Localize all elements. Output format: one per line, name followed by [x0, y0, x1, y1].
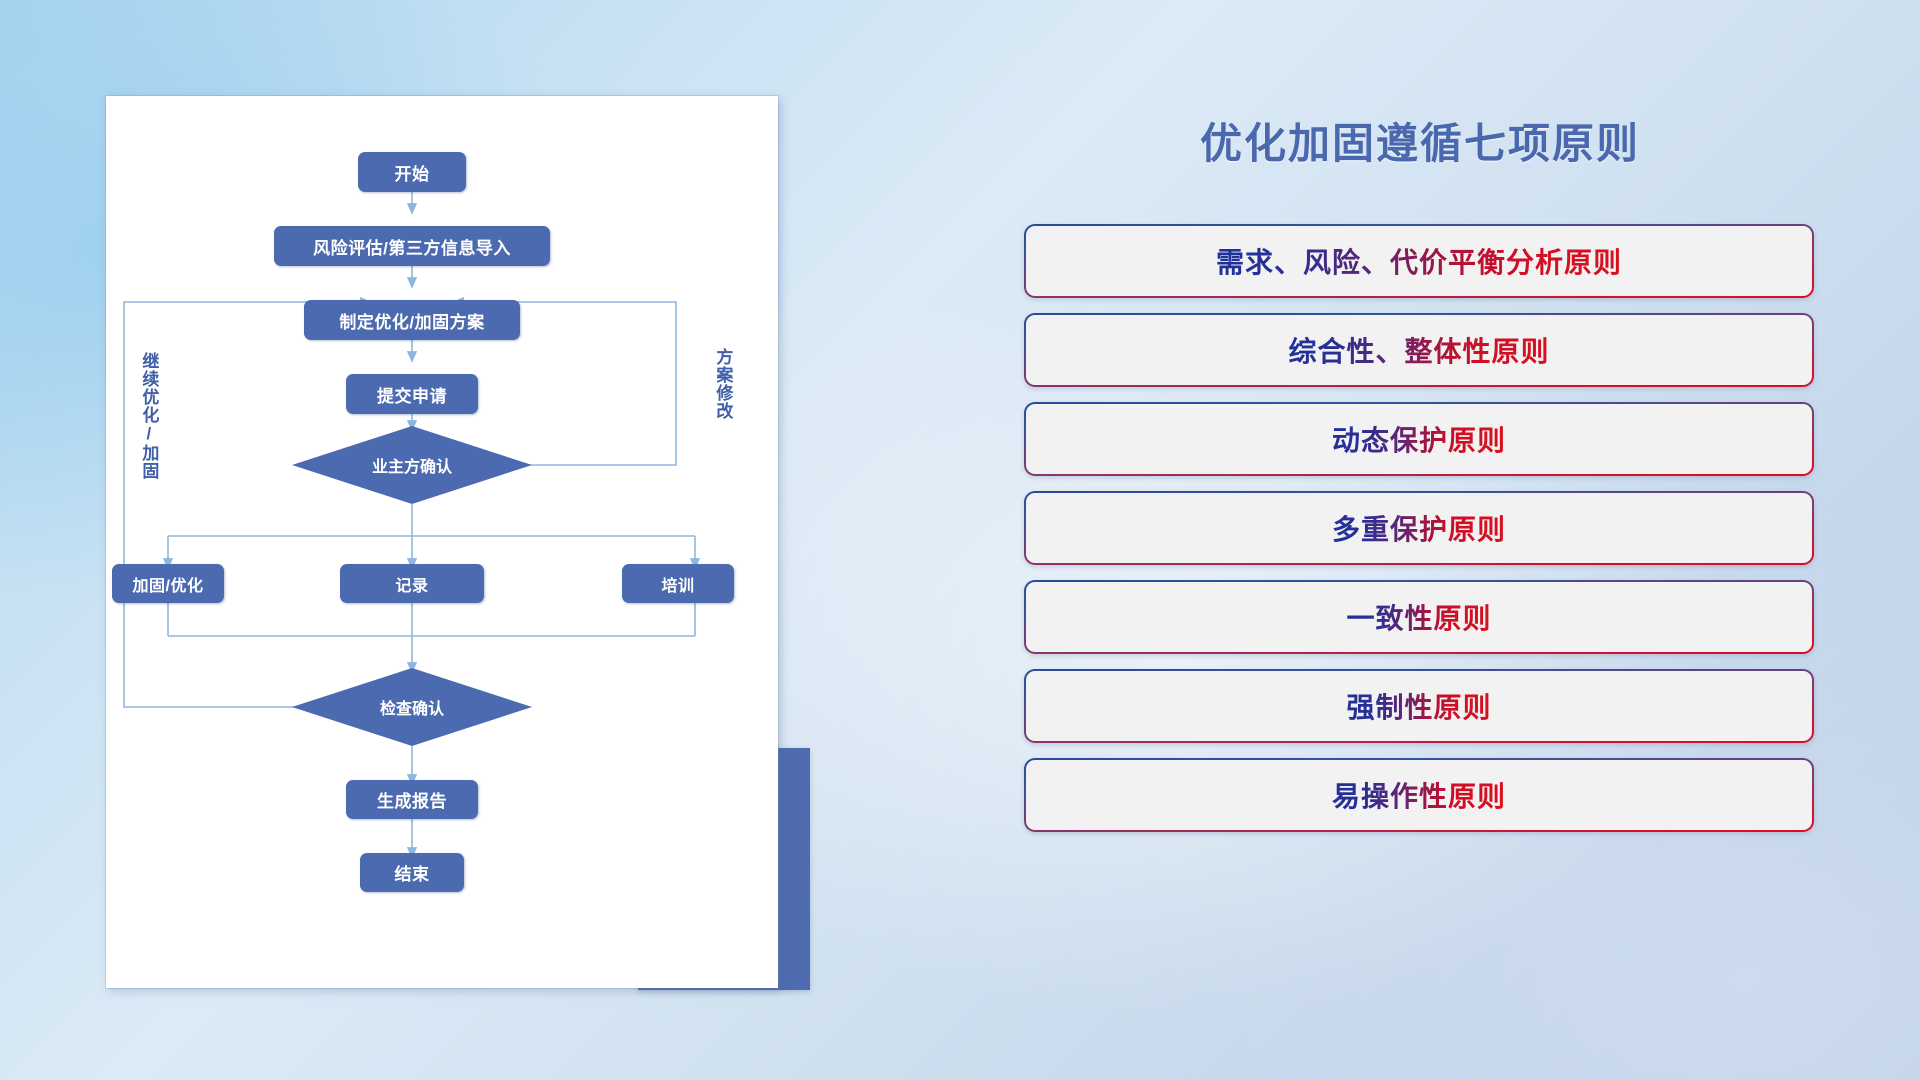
principle-card[interactable]: 综合性、整体性原则	[1024, 313, 1814, 387]
principles-list: 需求、风险、代价平衡分析原则 综合性、整体性原则 动态保护原则 多重保护原则	[1024, 224, 1814, 847]
principle-label: 动态保护原则	[1332, 419, 1506, 459]
flow-node-label: 结束	[395, 860, 430, 885]
flow-node-generate-report[interactable]: 生成报告	[346, 780, 478, 819]
flow-node-start[interactable]: 开始	[358, 152, 466, 192]
principle-card-inner: 易操作性原则	[1026, 760, 1812, 830]
flow-node-label: 加固/优化	[133, 572, 204, 596]
principle-label: 需求、风险、代价平衡分析原则	[1216, 241, 1622, 281]
principle-card-inner: 动态保护原则	[1026, 404, 1812, 474]
principle-card[interactable]: 动态保护原则	[1024, 402, 1814, 476]
flow-node-label: 生成报告	[377, 787, 447, 812]
panel-title: 优化加固遵循七项原则	[1010, 110, 1830, 171]
principle-label: 强制性原则	[1346, 686, 1491, 726]
principle-label: 易操作性原则	[1332, 775, 1506, 815]
slide-canvas: 开始 风险评估/第三方信息导入 制定优化/加固方案 提交申请 业主方确认 加固/…	[0, 0, 1920, 1080]
principle-card[interactable]: 易操作性原则	[1024, 758, 1814, 832]
flow-node-label: 开始	[395, 160, 430, 185]
flow-node-record[interactable]: 记录	[340, 564, 484, 603]
flow-node-label: 风险评估/第三方信息导入	[313, 234, 511, 259]
flow-node-owner-confirm[interactable]: 业主方确认	[292, 426, 532, 504]
principles-panel: 优化加固遵循七项原则 需求、风险、代价平衡分析原则 综合性、整体性原则 动态保护…	[1010, 96, 1830, 996]
principle-card-inner: 多重保护原则	[1026, 493, 1812, 563]
flow-node-reinforce-optimize[interactable]: 加固/优化	[112, 564, 224, 603]
principle-card[interactable]: 强制性原则	[1024, 669, 1814, 743]
flow-node-training[interactable]: 培训	[622, 564, 734, 603]
principle-card-inner: 综合性、整体性原则	[1026, 315, 1812, 385]
principle-card[interactable]: 多重保护原则	[1024, 491, 1814, 565]
flow-node-label: 提交申请	[377, 382, 447, 407]
principle-card[interactable]: 需求、风险、代价平衡分析原则	[1024, 224, 1814, 298]
flow-node-submit-application[interactable]: 提交申请	[346, 374, 478, 414]
principle-card-inner: 强制性原则	[1026, 671, 1812, 741]
flowchart: 开始 风险评估/第三方信息导入 制定优化/加固方案 提交申请 业主方确认 加固/…	[106, 96, 778, 988]
flow-node-make-plan[interactable]: 制定优化/加固方案	[304, 300, 520, 340]
flow-node-label: 培训	[661, 572, 694, 596]
edge-label-plan-revision: 方案修改	[713, 348, 731, 420]
flow-node-label: 记录	[395, 572, 428, 596]
flow-node-inspection-confirm[interactable]: 检查确认	[292, 668, 532, 746]
flow-node-label: 业主方确认	[372, 453, 452, 477]
flow-node-label: 制定优化/加固方案	[339, 308, 484, 333]
principle-label: 多重保护原则	[1332, 508, 1506, 548]
flow-node-label: 检查确认	[380, 695, 444, 719]
edge-label-continue-optimize: 继续优化/加固	[139, 352, 157, 480]
principle-label: 综合性、整体性原则	[1288, 330, 1549, 370]
flow-node-end[interactable]: 结束	[360, 853, 464, 892]
principle-card-inner: 需求、风险、代价平衡分析原则	[1026, 226, 1812, 296]
principle-card[interactable]: 一致性原则	[1024, 580, 1814, 654]
principle-label: 一致性原则	[1346, 597, 1491, 637]
flow-node-risk-assessment[interactable]: 风险评估/第三方信息导入	[274, 226, 550, 266]
flowchart-sheet: 开始 风险评估/第三方信息导入 制定优化/加固方案 提交申请 业主方确认 加固/…	[106, 96, 778, 988]
principle-card-inner: 一致性原则	[1026, 582, 1812, 652]
